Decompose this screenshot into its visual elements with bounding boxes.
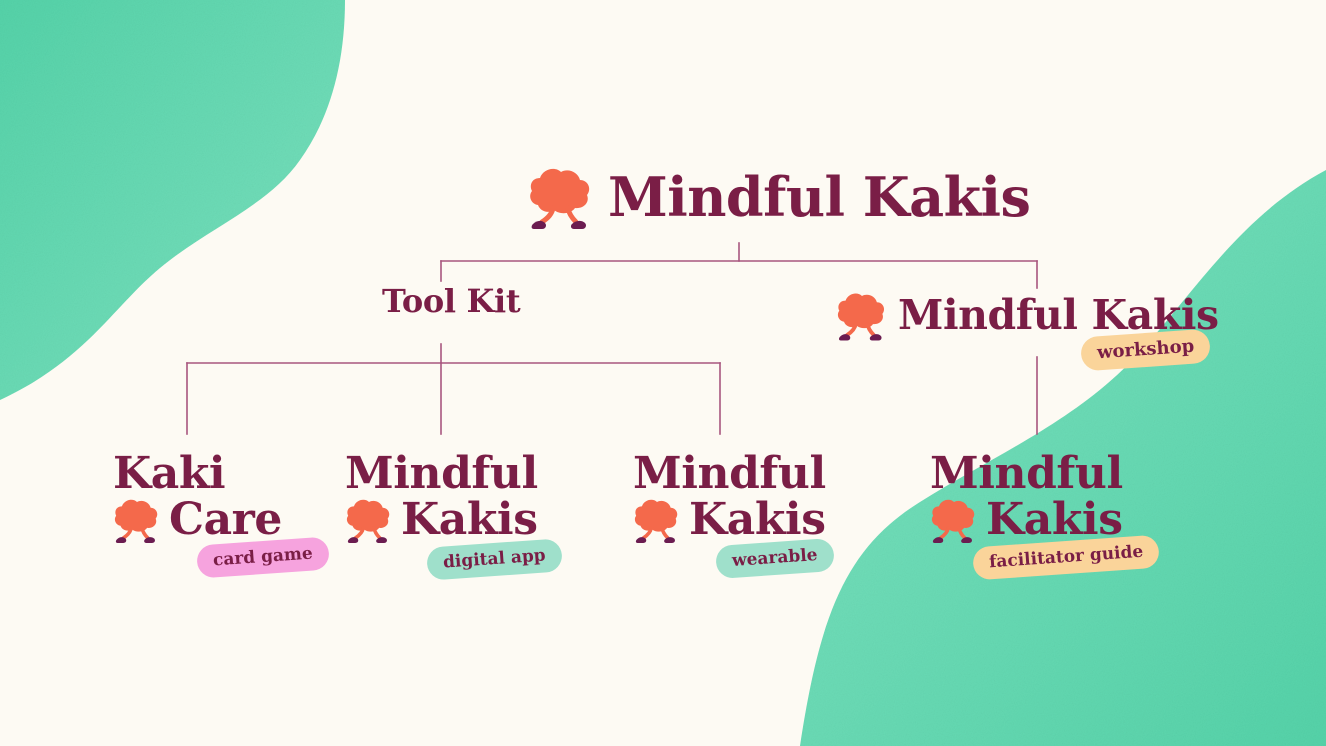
node-mindful-kakis-facilitator-guide[interactable]: Mindful Kakis [930, 452, 1123, 548]
wearable-line2: Kakis [689, 498, 826, 542]
product-hierarchy-diagram: Mindful Kakis Tool Kit Mindful Kakis [0, 0, 1326, 746]
brain-mascot-icon [345, 492, 393, 548]
digitalapp-line1: Mindful [345, 452, 538, 496]
tool-kit-label: Tool Kit [382, 286, 520, 317]
wearable-line1: Mindful [633, 452, 826, 496]
brain-mascot-icon [836, 285, 888, 346]
node-mindful-kakis-digital-app[interactable]: Mindful Kakis [345, 452, 538, 548]
workshop-wordmark: Mindful Kakis [898, 296, 1219, 336]
brain-mascot-icon [930, 492, 978, 548]
brain-mascot-icon [633, 492, 681, 548]
node-kaki-care-card-game[interactable]: Kaki Care [113, 452, 282, 548]
node-mindful-kakis-wearable[interactable]: Mindful Kakis [633, 452, 826, 548]
root-wordmark: Mindful Kakis [608, 171, 1030, 223]
brain-mascot-icon [528, 158, 594, 236]
node-tool-kit[interactable]: Tool Kit [382, 286, 520, 317]
guide-line1: Mindful [930, 452, 1123, 496]
node-root-mindful-kakis[interactable]: Mindful Kakis [528, 158, 1030, 236]
guide-line2: Kakis [986, 498, 1123, 542]
badge-wearable[interactable]: wearable [715, 538, 835, 579]
brain-mascot-icon [113, 492, 161, 548]
cardgame-line1: Kaki [113, 452, 225, 496]
cardgame-line2: Care [169, 498, 282, 542]
digitalapp-line2: Kakis [401, 498, 538, 542]
